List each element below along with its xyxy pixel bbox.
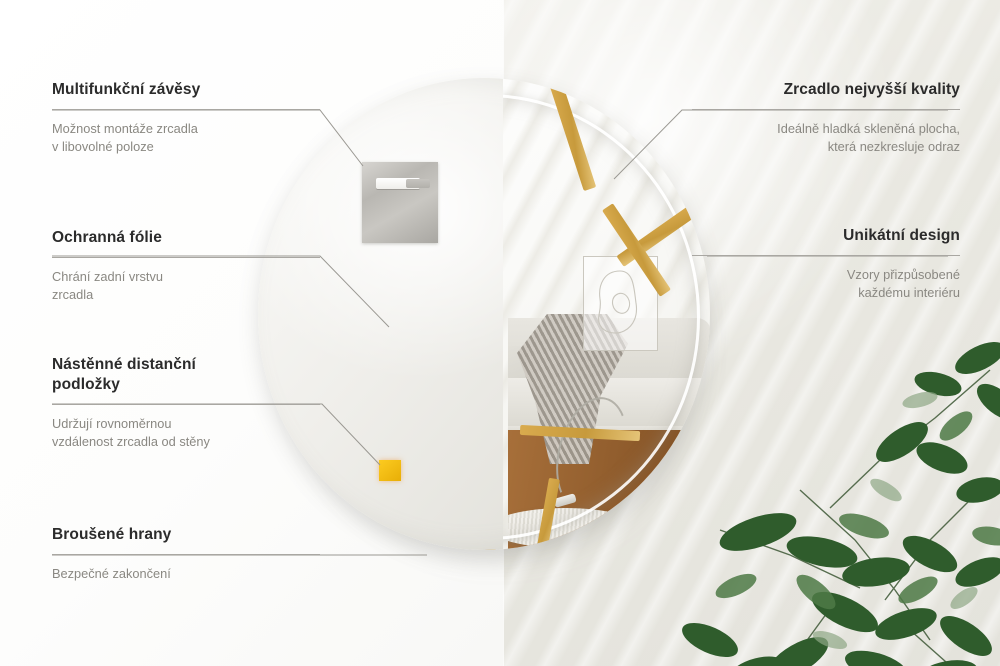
feature-title: Ochranná fólie <box>52 228 320 248</box>
feature-description: Udržují rovnoměrnouvzdálenost zrcadla od… <box>52 415 320 451</box>
feature-title: Zrcadlo nejvyšší kvality <box>692 80 960 100</box>
feature-brousene-hrany: Broušené hrany Bezpečné zakončení <box>52 525 320 583</box>
feature-rule <box>692 255 960 256</box>
feature-description: Bezpečné zakončení <box>52 565 320 583</box>
infographic-canvas: Multifunkční závěsy Možnost montáže zrca… <box>0 0 1000 666</box>
feature-rule <box>692 109 960 110</box>
hanger-plate <box>362 162 438 243</box>
feature-multifunkcni-zavesy: Multifunkční závěsy Možnost montáže zrca… <box>52 80 320 156</box>
feature-title: Nástěnné distančnípodložky <box>52 355 320 395</box>
mirror-body <box>258 78 710 550</box>
feature-description: Ideálně hladká skleněná plocha,která nez… <box>692 120 960 156</box>
feature-title: Unikátní design <box>692 226 960 246</box>
feature-nastenne-distancni-podlozky: Nástěnné distančnípodložky Udržují rovno… <box>52 355 320 451</box>
feature-ochranna-folie: Ochranná fólie Chrání zadní vrstvuzrcadl… <box>52 228 320 304</box>
yellow-spacer-pad <box>379 460 401 481</box>
feature-title: Broušené hrany <box>52 525 320 545</box>
round-mirror-product <box>258 78 723 568</box>
feature-description: Chrání zadní vrstvuzrcadla <box>52 268 320 304</box>
feature-description: Možnost montáže zrcadlav libovolné poloz… <box>52 120 320 156</box>
feature-rule <box>52 257 320 258</box>
foliage-decoration <box>680 340 1000 666</box>
feature-unikatni-design: Unikátní design Vzory přizpůsobenékaždém… <box>692 226 960 302</box>
hanger-keyhole-slot <box>376 178 420 189</box>
feature-title: Multifunkční závěsy <box>52 80 320 100</box>
feature-rule <box>52 404 320 405</box>
feature-rule <box>52 109 320 110</box>
feature-zrcadlo-nejvyssi-kvality: Zrcadlo nejvyšší kvality Ideálně hladká … <box>692 80 960 156</box>
feature-description: Vzory přizpůsobenékaždému interiéru <box>692 266 960 302</box>
feature-rule <box>52 554 320 555</box>
